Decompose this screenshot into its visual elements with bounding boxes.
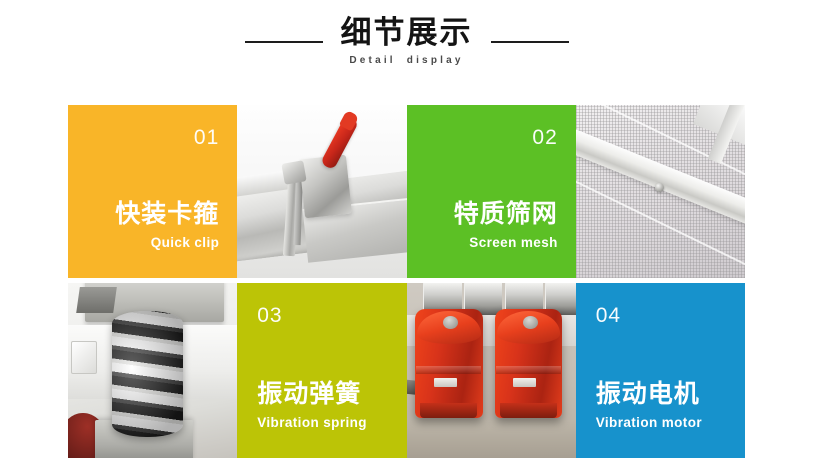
grid-cell — [237, 105, 406, 278]
tile-03-vibration-spring[interactable]: 03 振动弹簧 Vibration spring — [237, 283, 406, 458]
tile-number: 02 — [532, 127, 557, 148]
photo-screen-mesh — [576, 105, 745, 278]
grid-cell: 02 特质筛网 Screen mesh — [407, 105, 576, 278]
photo-vibration-spring — [68, 283, 237, 458]
page-subtitle: Detail display — [341, 56, 473, 66]
tile-title-cn: 特质筛网 — [454, 200, 558, 229]
machine-plate-shape — [71, 341, 97, 375]
tile-title-en: Vibration motor — [596, 415, 702, 430]
tile-title-cn: 振动电机 — [596, 380, 700, 409]
header-rule-left — [245, 41, 323, 43]
detail-grid: 01 快装卡箍 Quick clip 02 特质筛网 Screen mesh — [68, 105, 745, 458]
vibration-motor-shape — [415, 309, 483, 418]
tile-number: 01 — [194, 127, 219, 148]
motor-plate-shape — [513, 378, 536, 388]
motor-band-shape — [496, 366, 561, 375]
grid-cell — [576, 105, 745, 278]
motor-boss-shape — [443, 316, 458, 329]
motor-boss-shape — [523, 316, 538, 329]
motor-band-shape — [416, 366, 481, 375]
tile-title-cn: 快装卡箍 — [115, 200, 219, 229]
clamp-hinge-shape — [281, 160, 306, 184]
spring-bracket-lip-shape — [76, 287, 117, 313]
motor-foot-shape — [500, 403, 557, 418]
tile-01-quick-clip[interactable]: 01 快装卡箍 Quick clip — [68, 105, 237, 278]
tile-number: 03 — [257, 305, 282, 326]
tile-title-en: Screen mesh — [469, 235, 557, 250]
motor-foot-shape — [420, 403, 477, 418]
photo-quick-clip — [237, 105, 406, 278]
tile-02-screen-mesh[interactable]: 02 特质筛网 Screen mesh — [407, 105, 576, 278]
grid-cell: 03 振动弹簧 Vibration spring — [237, 283, 406, 458]
header-rule-right — [491, 41, 569, 43]
tile-title-en: Quick clip — [151, 235, 220, 250]
floor-shape — [407, 420, 576, 459]
grid-cell: 01 快装卡箍 Quick clip — [68, 105, 237, 278]
tile-04-vibration-motor[interactable]: 04 振动电机 Vibration motor — [576, 283, 745, 458]
tile-number: 04 — [596, 305, 621, 326]
grid-cell — [407, 283, 576, 458]
vibration-motor-shape — [495, 309, 563, 418]
photo-vibration-motor — [407, 283, 576, 458]
grid-cell — [68, 283, 237, 458]
tile-title-en: Vibration spring — [257, 415, 367, 430]
coil-spring-shading — [112, 311, 183, 437]
page-header: 细节展示 Detail display — [0, 18, 813, 66]
motor-plate-shape — [434, 378, 457, 388]
grid-cell: 04 振动电机 Vibration motor — [576, 283, 745, 458]
header-title-block: 细节展示 Detail display — [341, 18, 473, 66]
page-title: 细节展示 — [341, 18, 473, 49]
tile-title-cn: 振动弹簧 — [257, 380, 361, 409]
